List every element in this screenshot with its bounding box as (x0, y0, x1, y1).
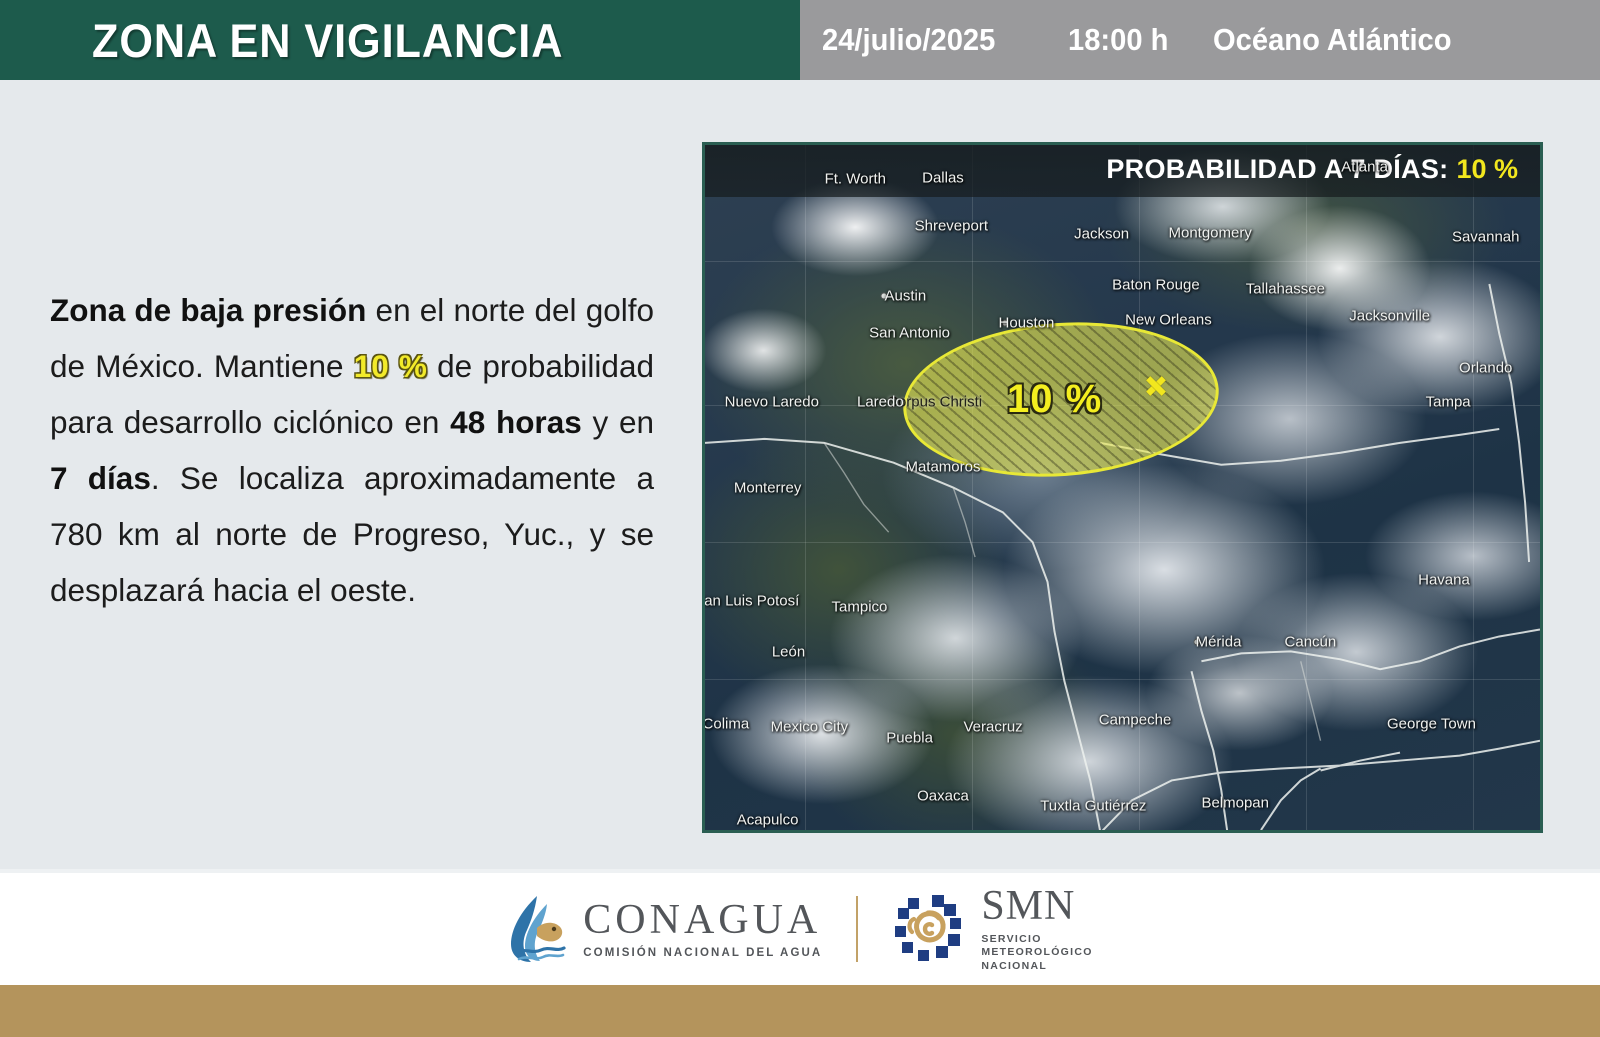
city-label: San Luis Potosí (702, 592, 799, 609)
smn-subtitle: SERVICIOMETEOROLÓGICONACIONAL (981, 933, 1092, 973)
city-label: Montgomery (1168, 224, 1251, 241)
header-meta-panel: 24/julio/2025 18:00 h Océano Atlántico (800, 0, 1600, 80)
city-label: Jacksonville (1349, 308, 1430, 325)
smn-name: SMN (981, 885, 1092, 927)
city-dot (1193, 638, 1200, 645)
conagua-name: CONAGUA (583, 899, 822, 941)
city-dot (880, 292, 887, 299)
city-label: León (772, 643, 805, 660)
city-label: Savannah (1452, 229, 1520, 246)
city-label: Baton Rouge (1112, 277, 1200, 294)
city-label: Belmopan (1201, 794, 1269, 811)
city-label: San Antonio (869, 325, 950, 342)
city-label: Matamoros (905, 458, 980, 475)
city-label: New Orleans (1125, 311, 1212, 328)
city-label: Mexico City (771, 719, 849, 736)
footer: CONAGUA COMISIÓN NACIONAL DEL AGUA (0, 873, 1600, 985)
city-label: Havana (1418, 571, 1470, 588)
description-lead: Zona de baja presión (50, 292, 366, 328)
city-label: Monterrey (734, 479, 802, 496)
advisory-time: 18:00 h (1068, 22, 1168, 58)
city-label: Acapulco (737, 811, 799, 828)
city-label: Tuxtla Gutiérrez (1040, 798, 1146, 815)
description-48h: 48 horas (450, 404, 582, 440)
city-label: George Town (1387, 715, 1476, 732)
city-label: Laredo (857, 393, 904, 410)
city-label: Orlando (1459, 359, 1512, 376)
conagua-logo: CONAGUA COMISIÓN NACIONAL DEL AGUA (507, 892, 822, 966)
page-title: ZONA EN VIGILANCIA (92, 13, 563, 68)
city-dot (1001, 320, 1008, 327)
city-label: Veracruz (963, 719, 1022, 736)
city-label: Colima (703, 715, 750, 732)
city-label-layer: Ft. WorthDallasAtlantaShreveportJacksonM… (705, 145, 1540, 830)
bottom-accent-bar (0, 985, 1600, 1037)
footer-divider (856, 896, 858, 962)
city-label: Austin (885, 287, 927, 304)
conagua-subtitle: COMISIÓN NACIONAL DEL AGUA (583, 948, 822, 960)
city-label: Dallas (922, 169, 964, 186)
advisory-date: 24/julio/2025 (822, 22, 995, 58)
city-label: Jackson (1074, 226, 1129, 243)
city-label: Atlanta (1341, 158, 1388, 175)
city-label: Campeche (1099, 712, 1172, 729)
city-label: Oaxaca (917, 787, 969, 804)
header-title-panel: ZONA EN VIGILANCIA (0, 0, 800, 80)
advisory-description: Zona de baja presión en el norte del gol… (50, 282, 654, 618)
city-label: Ft. Worth (825, 171, 886, 188)
city-label: Corpus Christi (887, 393, 982, 410)
city-label: Cancún (1285, 633, 1337, 650)
city-label: Tampa (1426, 393, 1471, 410)
conagua-water-icon (507, 892, 569, 966)
smn-logo: SMN SERVICIOMETEOROLÓGICONACIONAL (892, 885, 1092, 973)
city-label: Mérida (1196, 633, 1242, 650)
description-7d: 7 días (50, 460, 151, 496)
city-label: Shreveport (915, 217, 988, 234)
city-label: Puebla (886, 729, 933, 746)
city-label: Tallahassee (1246, 280, 1325, 297)
header-bar: ZONA EN VIGILANCIA 24/julio/2025 18:00 h… (0, 0, 1600, 80)
advisory-basin: Océano Atlántico (1213, 22, 1452, 58)
city-label: Tampico (832, 599, 888, 616)
satellite-map[interactable]: PROBABILIDAD A 7 DÍAS:10 % 10 % Ft. Wort… (702, 142, 1543, 833)
description-probability: 10 % (354, 348, 427, 384)
smn-spiral-icon (892, 892, 968, 966)
city-label: Nuevo Laredo (725, 393, 819, 410)
description-seg3: y en (582, 404, 654, 440)
